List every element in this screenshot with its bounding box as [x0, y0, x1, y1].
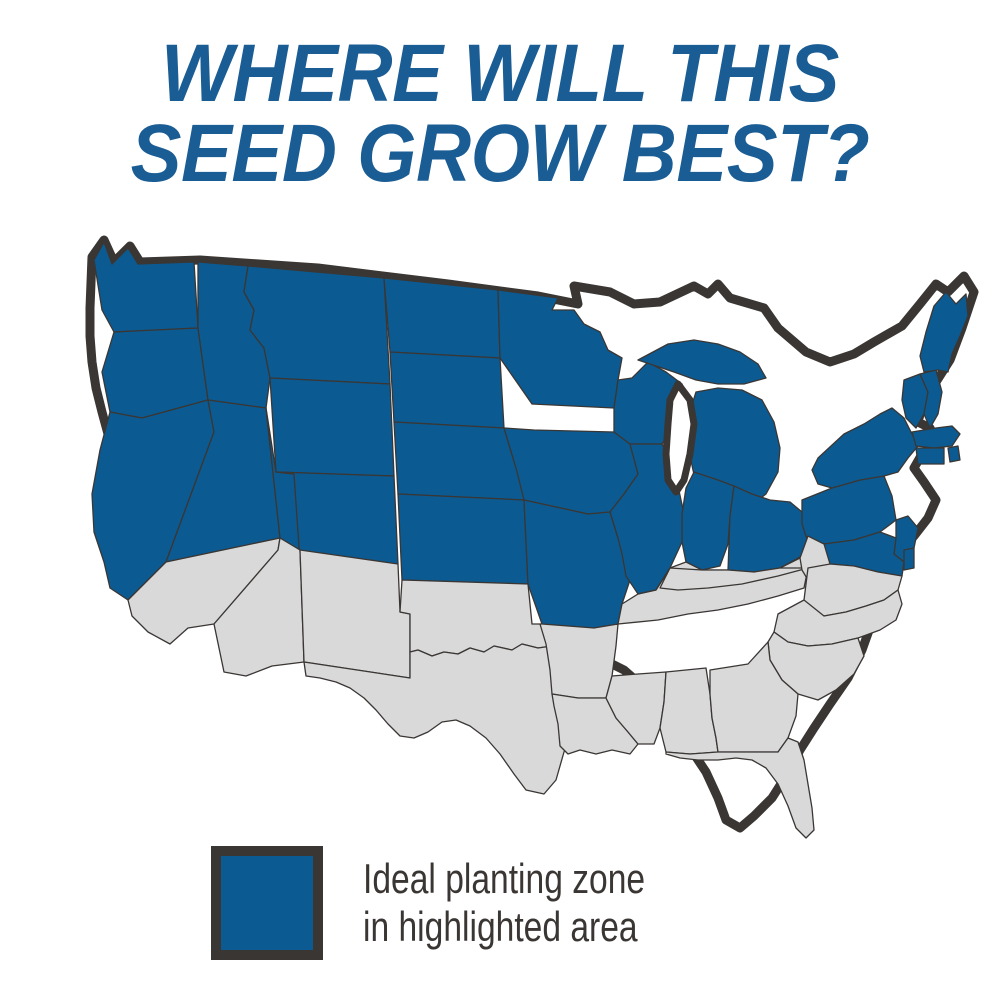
us-map-svg [18, 232, 982, 842]
state-new-mexico [300, 550, 410, 678]
title-line-1: WHERE WILL THIS [35, 34, 965, 114]
legend-label-line-2: in highlighted area [363, 903, 645, 951]
state-indiana [682, 472, 734, 570]
state-kansas [398, 494, 528, 584]
state-washington [94, 242, 198, 332]
page-title: WHERE WILL THIS SEED GROW BEST? [0, 34, 1000, 193]
legend: Ideal planting zone in highlighted area [211, 846, 716, 960]
state-massachusetts [912, 426, 960, 448]
state-rhode-island [948, 446, 960, 462]
state-delaware [904, 548, 914, 570]
state-minnesota [498, 290, 622, 408]
legend-swatch-zone [211, 846, 323, 960]
state-connecticut [916, 448, 944, 464]
state-north-dakota [384, 278, 500, 358]
state-new-york [812, 408, 918, 488]
poster-root: WHERE WILL THIS SEED GROW BEST? [0, 0, 1000, 1000]
state-wyoming [270, 378, 394, 476]
state-south-dakota [390, 352, 504, 428]
state-alabama [660, 668, 718, 754]
us-map [18, 232, 982, 842]
title-line-2: SEED GROW BEST? [35, 114, 965, 194]
lake-michigan [666, 384, 694, 492]
state-arkansas [540, 624, 618, 698]
legend-label-line-1: Ideal planting zone [363, 855, 645, 903]
state-maine [920, 292, 968, 372]
legend-label: Ideal planting zone in highlighted area [363, 855, 645, 951]
